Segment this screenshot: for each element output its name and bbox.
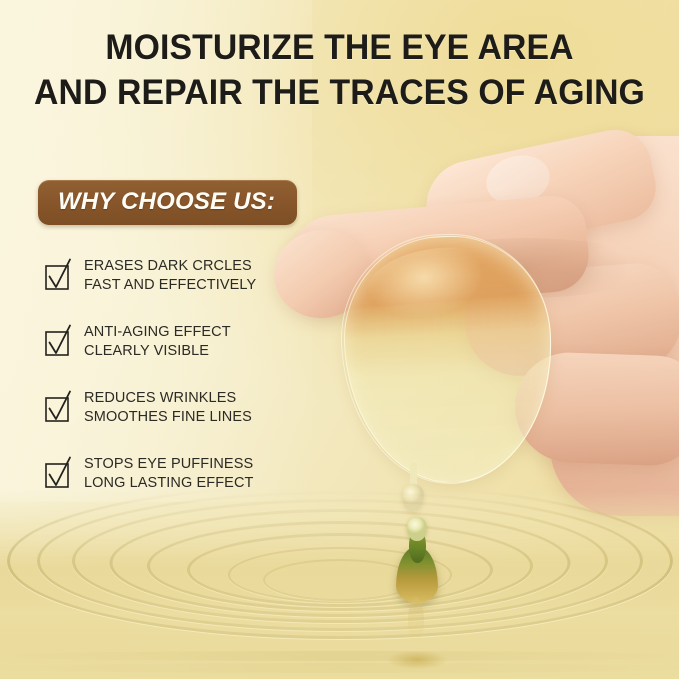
splash-reflection — [408, 597, 424, 643]
benefit-line-1: STOPS EYE PUFFINESS — [84, 455, 253, 474]
oil-ripple-surface — [0, 489, 679, 679]
list-item: ANTI-AGING EFFECT CLEARLY VISIBLE — [44, 318, 314, 362]
hand-with-patch-photo — [250, 118, 679, 538]
ripple-sheen — [0, 559, 679, 679]
list-item-text: STOPS EYE PUFFINESS LONG LASTING EFFECT — [84, 450, 253, 494]
promo-image: MOISTURIZE THE EYE AREA AND REPAIR THE T… — [0, 0, 679, 679]
list-item: REDUCES WRINKLES SMOOTHES FINE LINES — [44, 384, 314, 428]
benefit-line-2: FAST AND EFFECTIVELY — [84, 276, 256, 295]
headline-line-2: AND REPAIR THE TRACES OF AGING — [12, 71, 667, 116]
benefit-line-2: SMOOTHES FINE LINES — [84, 408, 252, 427]
list-item: ERASES DARK CRCLES FAST AND EFFECTIVELY — [44, 252, 314, 296]
list-item-text: ANTI-AGING EFFECT CLEARLY VISIBLE — [84, 318, 231, 362]
why-choose-us-badge: WHY CHOOSE US: — [38, 180, 297, 225]
list-item-text: REDUCES WRINKLES SMOOTHES FINE LINES — [84, 384, 252, 428]
benefits-list: ERASES DARK CRCLES FAST AND EFFECTIVELY … — [44, 252, 314, 516]
list-item-text: ERASES DARK CRCLES FAST AND EFFECTIVELY — [84, 252, 256, 296]
headline-line-1: MOISTURIZE THE EYE AREA — [12, 26, 667, 71]
checkbox-checked-icon — [44, 324, 74, 358]
checkbox-checked-icon — [44, 258, 74, 292]
checkbox-checked-icon — [44, 456, 74, 490]
benefit-line-1: ANTI-AGING EFFECT — [84, 323, 231, 342]
benefit-line-1: ERASES DARK CRCLES — [84, 257, 256, 276]
oil-splash-column — [396, 517, 438, 603]
benefit-line-2: LONG LASTING EFFECT — [84, 474, 253, 493]
why-choose-us-label: WHY CHOOSE US: — [58, 188, 275, 216]
page-title: MOISTURIZE THE EYE AREA AND REPAIR THE T… — [12, 26, 667, 116]
splash-crown — [374, 651, 460, 673]
checkbox-checked-icon — [44, 390, 74, 424]
list-item: STOPS EYE PUFFINESS LONG LASTING EFFECT — [44, 450, 314, 494]
benefit-line-1: REDUCES WRINKLES — [84, 389, 252, 408]
benefit-line-2: CLEARLY VISIBLE — [84, 342, 231, 361]
splash-droplet — [407, 517, 427, 541]
